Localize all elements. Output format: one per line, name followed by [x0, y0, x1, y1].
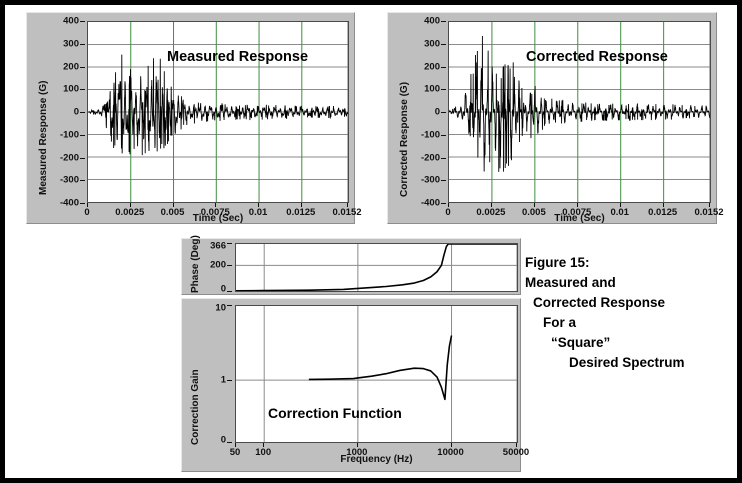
phase-plot [235, 243, 518, 292]
figure-container: Measured Response (G) 4003002001000-100-… [0, 0, 742, 483]
phase-trace [236, 244, 517, 291]
y-tick-mark [80, 67, 85, 68]
y-tick-label: 100 [63, 84, 79, 95]
correction-function-title: Correction Function [268, 405, 402, 421]
correction-gain-trace [236, 306, 517, 442]
y-tick-mark [441, 203, 446, 204]
y-tick-label: -100 [60, 129, 79, 140]
y-tick-label: -400 [421, 198, 440, 209]
y-tick-label: 0 [221, 284, 226, 295]
y-tick-mark [441, 89, 446, 90]
figure-caption: Figure 15:Measured andCorrected Response… [525, 253, 737, 373]
caption-line: Corrected Response [525, 293, 737, 313]
y-tick-mark [80, 112, 85, 113]
y-tick-label: -100 [421, 129, 440, 140]
y-tick-label: -300 [60, 175, 79, 186]
caption-line: Desired Spectrum [525, 353, 737, 373]
y-tick-label: 366 [210, 241, 226, 252]
corrected-response-x-axis-label: Time (Sec) [448, 213, 711, 224]
y-tick-mark [227, 291, 232, 292]
y-tick-label: 1 [221, 375, 226, 386]
y-tick-mark [441, 44, 446, 45]
y-tick-label: -200 [421, 152, 440, 163]
y-tick-mark [80, 180, 85, 181]
y-tick-mark [80, 44, 85, 45]
y-tick-mark [80, 203, 85, 204]
correction-gain-x-axis-label: Frequency (Hz) [235, 454, 518, 465]
measured-response-y-ticks: 4003002001000-100-200-300-400 [45, 21, 85, 203]
corrected-response-y-ticks: 4003002001000-100-200-300-400 [406, 21, 446, 203]
y-tick-label: -400 [60, 198, 79, 209]
y-tick-mark [441, 135, 446, 136]
y-tick-mark [441, 158, 446, 159]
phase-panel: Phase (Deg) 3662000 [181, 238, 521, 295]
correction-gain-plot [235, 305, 518, 443]
y-tick-mark [80, 135, 85, 136]
y-tick-mark [441, 112, 446, 113]
y-tick-label: 400 [63, 16, 79, 27]
correction-gain-y-ticks: 1010 [198, 305, 232, 443]
caption-line: For a [525, 313, 737, 333]
y-tick-label: 0 [435, 107, 440, 118]
corrected-response-panel: Corrected Response (G) 4003002001000-100… [387, 12, 717, 224]
y-tick-label: 200 [63, 61, 79, 72]
y-tick-label: 300 [424, 38, 440, 49]
y-tick-mark [227, 243, 232, 244]
y-tick-mark [441, 67, 446, 68]
y-tick-mark [227, 265, 232, 266]
y-tick-label: 0 [74, 107, 79, 118]
correction-gain-panel: Correction Gain 1010 Correction Function… [181, 298, 521, 472]
y-tick-label: 400 [424, 16, 440, 27]
y-tick-label: 100 [424, 84, 440, 95]
y-tick-mark [80, 21, 85, 22]
y-tick-label: 10 [215, 303, 226, 314]
caption-line: “Square” [525, 333, 737, 353]
y-tick-mark [441, 180, 446, 181]
y-tick-label: -200 [60, 152, 79, 163]
y-tick-label: -300 [421, 175, 440, 186]
y-tick-mark [80, 89, 85, 90]
measured-response-title: Measured Response [167, 49, 308, 65]
y-tick-mark [80, 158, 85, 159]
y-tick-mark [227, 305, 232, 306]
measured-response-x-axis-label: Time (Sec) [87, 213, 349, 224]
y-tick-label: 200 [210, 260, 226, 271]
corrected-response-title: Corrected Response [526, 49, 668, 65]
y-tick-label: 200 [424, 61, 440, 72]
measured-response-panel: Measured Response (G) 4003002001000-100-… [26, 12, 355, 224]
phase-y-ticks: 3662000 [198, 243, 232, 292]
y-tick-mark [441, 21, 446, 22]
y-tick-label: 300 [63, 38, 79, 49]
caption-line: Figure 15: [525, 253, 737, 273]
caption-line: Measured and [525, 273, 737, 293]
y-tick-mark [227, 380, 232, 381]
y-tick-label: 0 [221, 435, 226, 446]
y-tick-mark [227, 442, 232, 443]
